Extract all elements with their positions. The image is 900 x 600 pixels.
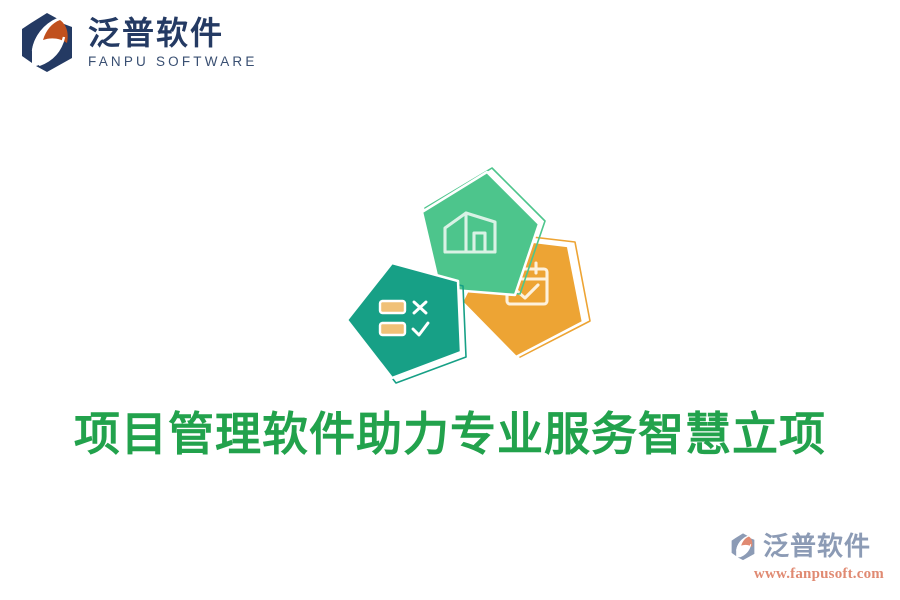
three-pentagons-illustration [340,158,600,386]
watermark-brand-name: 泛普软件 [763,534,871,560]
pentagon-checklist-group [347,263,466,383]
page-title: 项目管理软件助力专业服务智慧立项 [0,398,900,464]
watermark-url: www.fanpusoft.com [728,566,884,583]
fanpu-logo-icon [14,10,80,76]
brand-logo: 泛普软件 FANPU SOFTWARE [14,10,258,76]
fanpu-logo-icon [728,532,758,562]
brand-name-en: FANPU SOFTWARE [88,55,258,69]
brand-logo-text: 泛普软件 FANPU SOFTWARE [88,17,258,69]
watermark-brand-row: 泛普软件 [728,530,884,564]
brand-name-cn: 泛普软件 [88,17,258,49]
watermark: 泛普软件 www.fanpusoft.com [728,530,884,586]
